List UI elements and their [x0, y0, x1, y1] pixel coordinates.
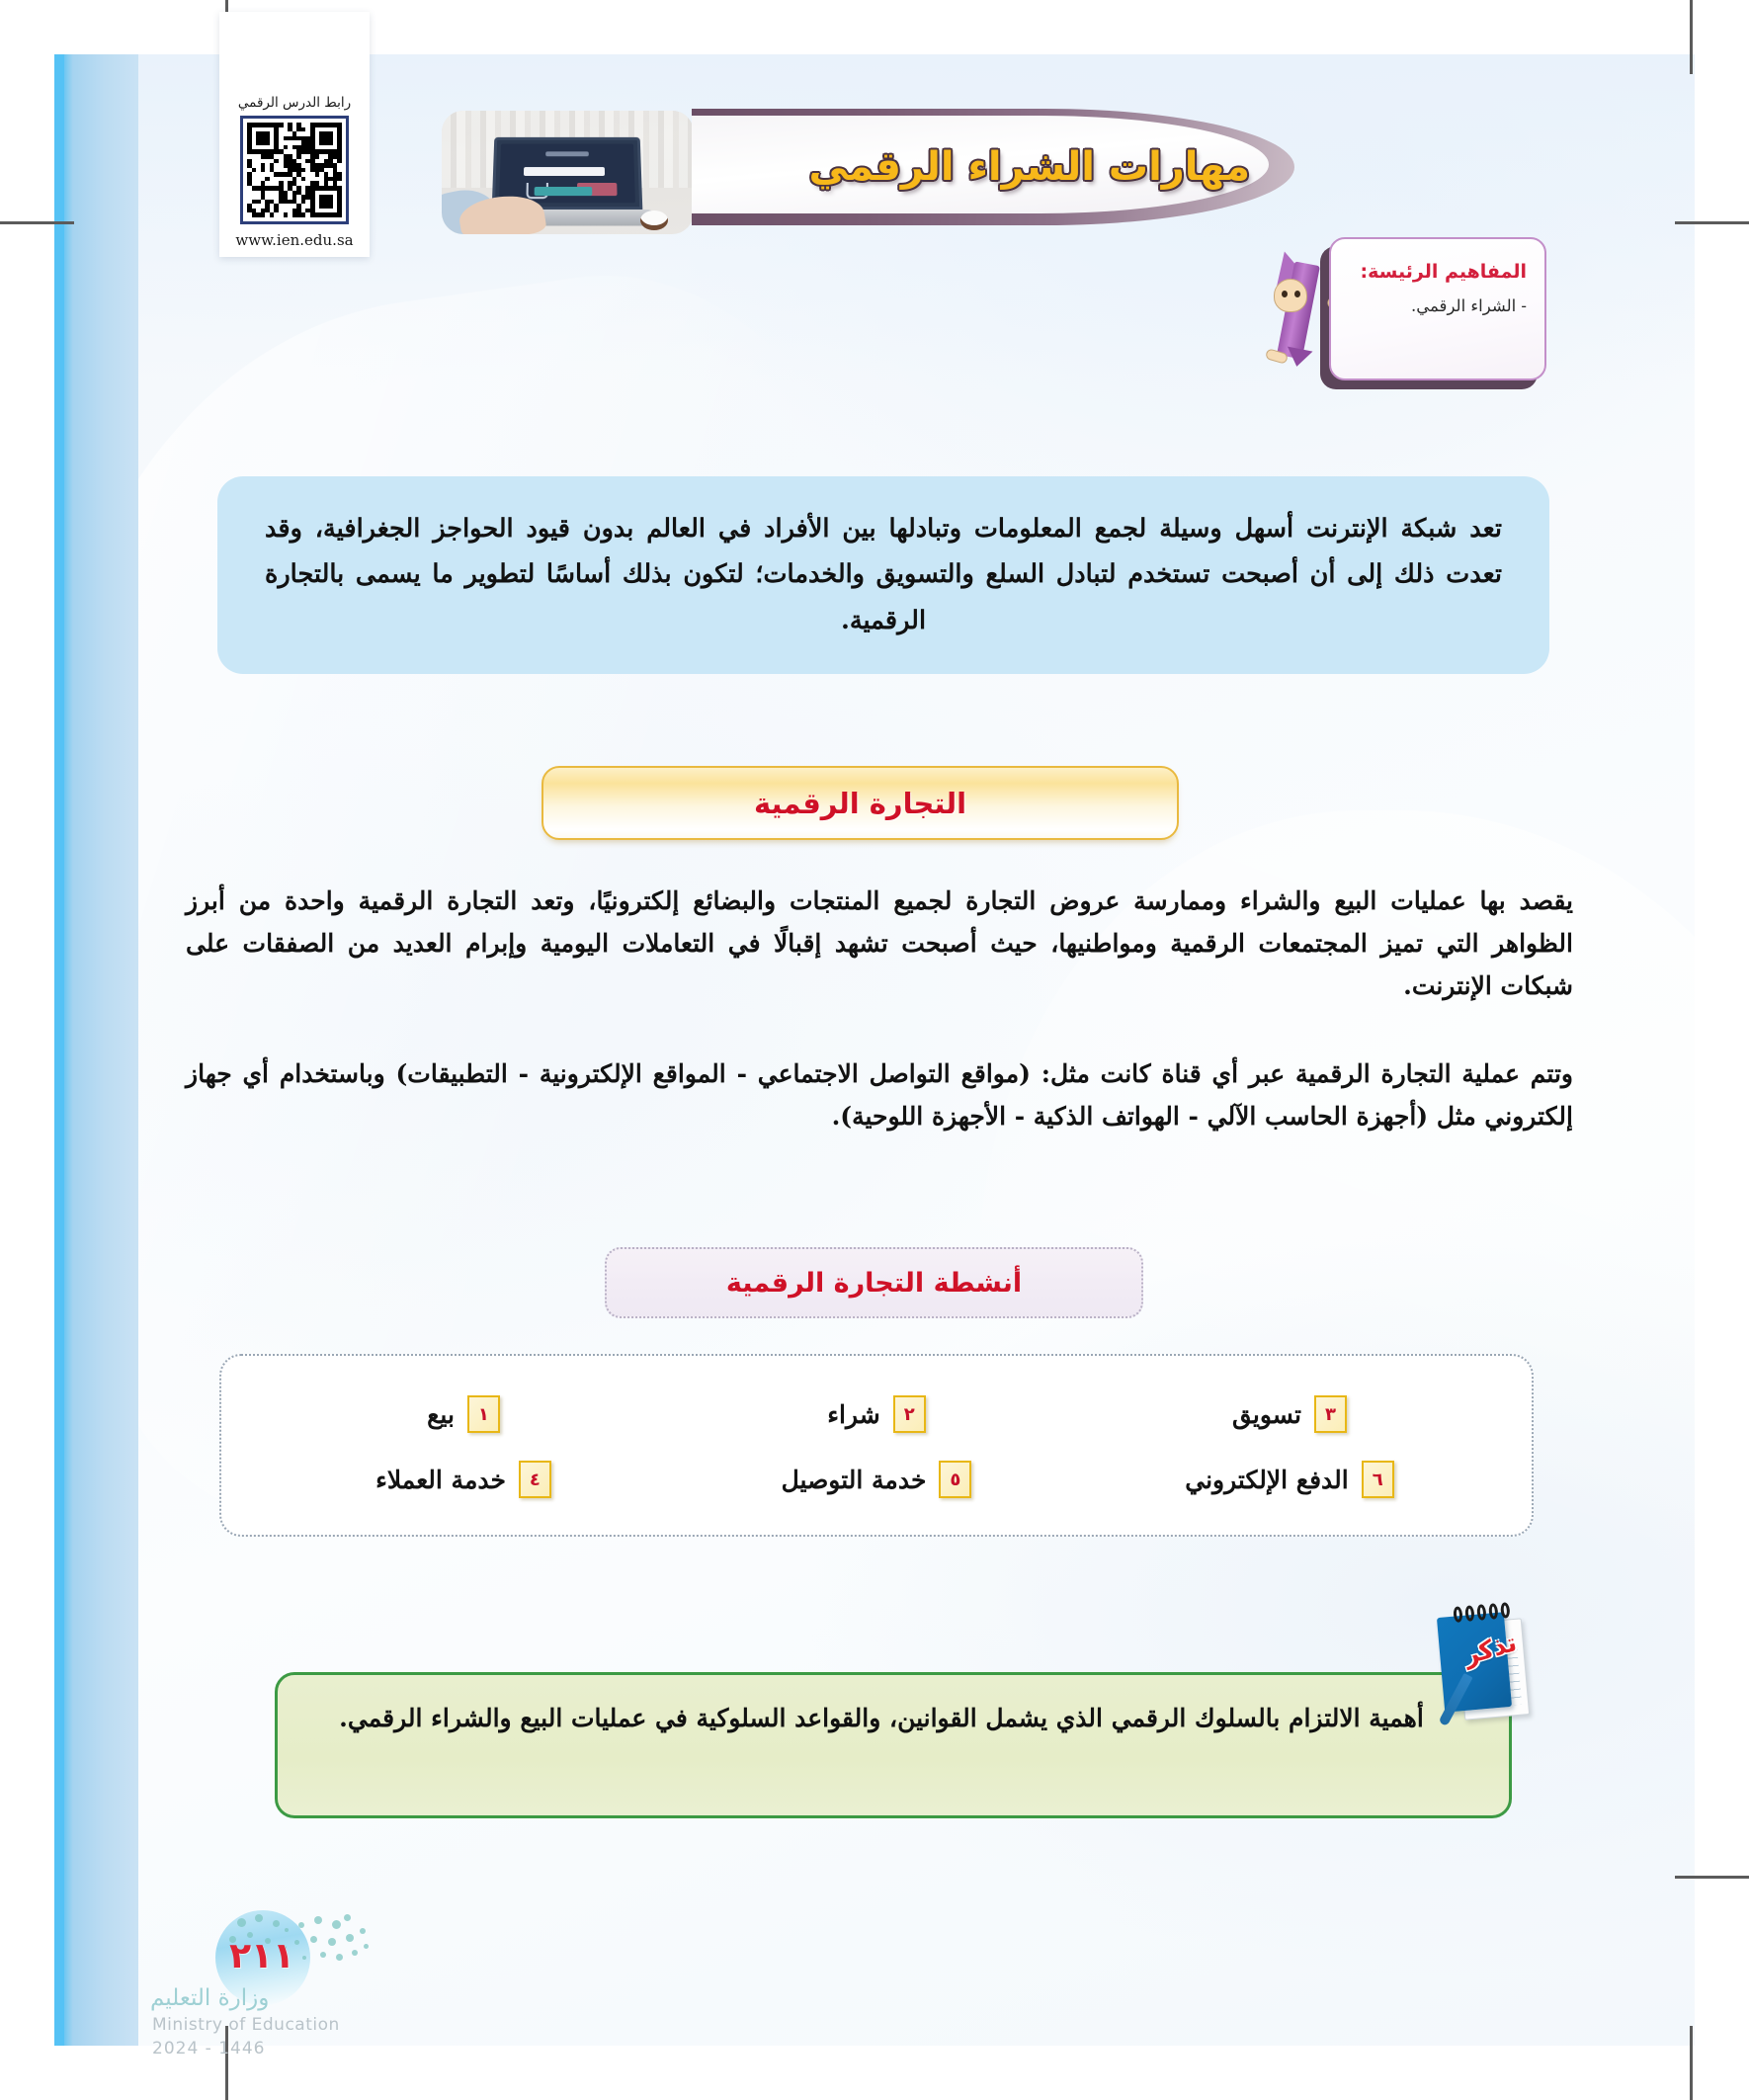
remember-text: أهمية الالتزام بالسلوك الرقمي الذي يشمل … — [317, 1697, 1446, 1741]
page-title: مهارات الشراء الرقمي — [808, 144, 1250, 190]
textbook-page: رابط الدرس الرقمي www.ien.edu.sa مهارات … — [0, 0, 1749, 2100]
activity-item-3: ٣ تسويق — [1083, 1395, 1496, 1433]
activity-label: خدمة العملاء — [375, 1466, 506, 1494]
crop-mark-bottom-right — [1690, 2026, 1693, 2100]
activities-heading-label: أنشطة التجارة الرقمية — [726, 1268, 1022, 1299]
commerce-paragraph-1-wrap: يقصد بها عمليات البيع والشراء وممارسة عر… — [186, 880, 1573, 1007]
screen-title-bar — [545, 151, 588, 156]
pencil-mascot-icon — [1260, 255, 1339, 364]
activity-label: الدفع الإلكتروني — [1185, 1466, 1348, 1494]
coffee-cup-icon — [640, 210, 668, 230]
activity-number-badge: ٤ — [519, 1461, 551, 1498]
page-number: ٢١١ — [233, 1936, 294, 1976]
qr-code-icon[interactable] — [240, 116, 349, 224]
activities-list-box: ٣ تسويق ٢ شراء ١ بيع ٦ الدفع الإلكتروني … — [219, 1354, 1534, 1537]
activity-label: بيع — [427, 1400, 455, 1429]
activity-number-badge: ١ — [467, 1395, 500, 1433]
section-heading-label: التجارة الرقمية — [754, 787, 966, 820]
lesson-title-banner: مهارات الشراء الرقمي — [692, 109, 1294, 225]
left-edge-accent-stripe — [54, 54, 64, 2046]
activity-item-1: ١ بيع — [257, 1395, 670, 1433]
activities-row-2: ٦ الدفع الإلكتروني ٥ خدمة التوصيل ٤ خدمة… — [257, 1447, 1496, 1512]
digital-lesson-qr-card[interactable]: رابط الدرس الرقمي www.ien.edu.sa — [219, 12, 370, 257]
notepad-ring — [1453, 1606, 1462, 1623]
ministry-name-arabic: وزارة التعليم — [150, 1985, 269, 2011]
laptop-screen — [499, 144, 635, 204]
key-concepts-box: المفاهيم الرئيسة: - الشراء الرقمي. — [1329, 237, 1546, 380]
remember-box: أهمية الالتزام بالسلوك الرقمي الذي يشمل … — [275, 1672, 1512, 1818]
commerce-paragraph-2: وتتم عملية التجارة الرقمية عبر أي قناة ك… — [186, 1052, 1573, 1137]
activity-label: تسويق — [1232, 1400, 1301, 1429]
activities-row-1: ٣ تسويق ٢ شراء ١ بيع — [257, 1382, 1496, 1447]
page-footer: وزارة التعليم Ministry of Education 2024… — [138, 1892, 474, 2065]
section-heading-digital-commerce: التجارة الرقمية — [541, 766, 1179, 840]
remember-callout: أهمية الالتزام بالسلوك الرقمي الذي يشمل … — [275, 1672, 1512, 1818]
key-concepts-title: المفاهيم الرئيسة: — [1345, 261, 1527, 283]
crop-mark-left-top — [0, 221, 74, 224]
notepad-ring — [1464, 1605, 1474, 1622]
screen-secondary-button — [535, 187, 593, 196]
activity-number-badge: ٥ — [939, 1461, 971, 1498]
activity-number-badge: ٦ — [1362, 1461, 1394, 1498]
mascot-eye-left — [1282, 291, 1288, 297]
activity-item-6: ٦ الدفع الإلكتروني — [1083, 1461, 1496, 1498]
qr-card-url: www.ien.edu.sa — [235, 231, 353, 249]
commerce-paragraph-2-wrap: وتتم عملية التجارة الرقمية عبر أي قناة ك… — [186, 1052, 1573, 1137]
activity-item-5: ٥ خدمة التوصيل — [670, 1461, 1083, 1498]
activity-number-badge: ٣ — [1314, 1395, 1347, 1433]
ministry-name-english: Ministry of Education — [152, 2015, 340, 2035]
screen-search-bar — [524, 167, 605, 176]
notepad-ring — [1476, 1604, 1486, 1621]
crop-mark-right-top — [1675, 221, 1749, 224]
activity-item-2: ٢ شراء — [670, 1395, 1083, 1433]
activity-label: خدمة التوصيل — [782, 1466, 927, 1494]
notepad-ring — [1488, 1603, 1498, 1620]
key-concepts-item: - الشراء الرقمي. — [1345, 296, 1527, 315]
key-concepts-body: المفاهيم الرئيسة: - الشراء الرقمي. — [1329, 237, 1546, 380]
left-edge-blue-bar — [54, 54, 138, 2046]
notepad-icon: تذكر — [1439, 1609, 1534, 1725]
activity-item-4: ٤ خدمة العملاء — [257, 1461, 670, 1498]
commerce-paragraph-1: يقصد بها عمليات البيع والشراء وممارسة عر… — [186, 880, 1573, 1007]
online-shopping-photo — [442, 111, 694, 234]
crop-mark-right-bottom — [1675, 1876, 1749, 1879]
intro-paragraph: تعد شبكة الإنترنت أسهل وسيلة لجمع المعلو… — [265, 506, 1502, 643]
crop-mark-top-right — [1690, 0, 1693, 74]
ministry-year: 2024 - 1446 — [152, 2039, 265, 2058]
mascot-eye-right — [1294, 291, 1300, 297]
mascot-face — [1274, 279, 1307, 312]
activity-number-badge: ٢ — [893, 1395, 926, 1433]
activity-label: شراء — [827, 1400, 879, 1429]
notepad-ring — [1500, 1602, 1510, 1619]
section-heading-activities: أنشطة التجارة الرقمية — [605, 1247, 1143, 1318]
intro-callout-box: تعد شبكة الإنترنت أسهل وسيلة لجمع المعلو… — [217, 476, 1549, 674]
qr-card-label: رابط الدرس الرقمي — [238, 95, 351, 111]
